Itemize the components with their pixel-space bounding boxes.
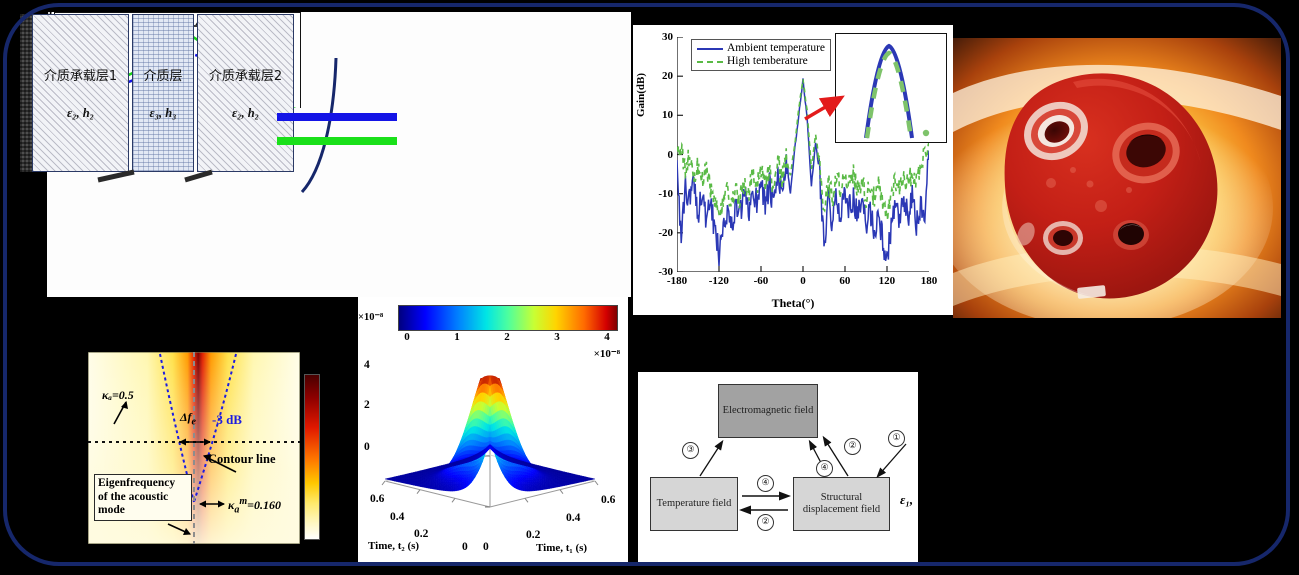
eigen-line-2: of the acoustic [98, 491, 188, 505]
layer-carrier-1-name: 介质承载层1 [44, 65, 117, 84]
legend-line-solid [697, 48, 723, 50]
surface-mesh [358, 339, 628, 565]
surface-ytick-02: 0.2 [414, 528, 428, 540]
surface-ytick-04: 0.4 [390, 511, 404, 523]
gain-x-axis-label: Theta(°) [633, 296, 953, 311]
gain-ytick-10: 10 [662, 109, 673, 121]
layer-dielectric-params: ε₃, h₃ [149, 106, 176, 121]
surface-xtick-04: 0.4 [566, 512, 580, 524]
legend-label-ambient: Ambient temperature [727, 42, 825, 55]
layer-carrier-2-name: 介质承载层2 [209, 65, 282, 84]
contour-kappa-a-label: κₐ=0.5 [102, 388, 134, 403]
nose-cone-illustration [953, 38, 1281, 318]
surface-y-axis-label: Time, t₂ (s) [368, 540, 419, 552]
surface-xtick-06: 0.6 [601, 494, 615, 506]
spectrum-legend-swatch-blue [277, 113, 397, 121]
gain-pattern-chart: Gain(dB) Theta(°) 30 20 10 0 -10 -20 -30… [633, 25, 953, 315]
main-lobe-zoom-inset [835, 33, 947, 143]
correlation-surface-plot: ×10⁻⁸ 0 1 2 3 4 ×10⁻⁸ 4 2 0 0.6 0.4 0.2 … [358, 297, 628, 565]
gain-xtick-180: 180 [921, 275, 938, 287]
layer-carrier-2: 介质承载层2 ε₂, h₂ [197, 14, 294, 172]
contour-contour-line-label: Contour line [208, 452, 276, 467]
gain-ytick-30: 30 [662, 31, 673, 43]
reentry-nose-cone-photo [953, 38, 1281, 318]
legend-item-high: High temberature [697, 55, 825, 68]
contour-delta-f-label: Δfe [180, 410, 196, 427]
arrow-number-2a: ② [844, 438, 861, 455]
surface-ytick-0: 0 [462, 541, 468, 553]
gain-ytick-m10: -10 [658, 188, 673, 200]
spectrum-legend-swatch-green [277, 137, 397, 145]
arrow-number-3: ③ [682, 442, 699, 459]
gain-xtick-0: 0 [800, 275, 806, 287]
legend-line-dashed [697, 61, 723, 63]
eigenfrequency-contour-plot: κₐ=0.5 -3 dB Δfe Contour line κam=0.160 … [88, 352, 300, 544]
gain-y-axis-label: Gain(dB) [635, 73, 647, 117]
layer-carrier-1: 介质承载层1 ε₂, h₂ [32, 14, 129, 172]
spectrum-y-axis-label: B , ref=1J ) [2, 6, 20, 126]
colorbar-exponent-left: ×10⁻⁸ [358, 311, 383, 323]
gain-xtick-m180: -180 [667, 275, 687, 287]
surface-xtick-0: 0 [483, 541, 489, 553]
legend-item-ambient: Ambient temperature [697, 42, 825, 55]
gain-xtick-120: 120 [879, 275, 896, 287]
layer-dielectric-name: 介质层 [143, 65, 182, 84]
surface-ytick-06: 0.6 [370, 493, 384, 505]
legend-label-high: High temberature [727, 55, 808, 68]
gain-ytick-m20: -20 [658, 227, 673, 239]
eigen-line-3: mode [98, 504, 188, 518]
figure-collage: B , ref=1J ) -50 -70 κₐ=0.5 Δfe [0, 0, 1299, 575]
epsilon-1-label: ε₁, [900, 492, 913, 508]
inset-curves [836, 34, 943, 139]
multiphysics-coupling-diagram: Electromagnetic field Temperature field … [638, 372, 918, 565]
contour-kappa-m-label: κam=0.160 [228, 496, 281, 515]
gain-ytick-0: 0 [668, 149, 674, 161]
layer-carrier-1-params: ε₂, h₂ [67, 106, 94, 121]
surface-colorbar [398, 305, 618, 331]
arrow-number-1: ① [888, 430, 905, 447]
coupling-arrows [638, 372, 918, 565]
arrow-number-2b: ② [757, 514, 774, 531]
eigen-line-1: Eigenfrequency [98, 477, 188, 491]
gain-xtick-60: 60 [839, 275, 850, 287]
contour-colorbar [304, 374, 320, 540]
gain-legend: Ambient temperature High temberature [691, 39, 831, 71]
surface-x-axis-label: Time, t₁ (s) [536, 542, 587, 554]
gain-xtick-m120: -120 [709, 275, 729, 287]
gain-xtick-m60: -60 [754, 275, 769, 287]
layer-carrier-2-params: ε₂, h₂ [232, 106, 259, 121]
contour-eigenfrequency-box: Eigenfrequency of the acoustic mode [94, 474, 192, 521]
gain-ytick-20: 20 [662, 70, 673, 82]
layer-dielectric: 介质层 ε₃, h₃ [132, 14, 194, 172]
arrow-number-4a: ④ [816, 460, 833, 477]
surface-xtick-02: 0.2 [526, 529, 540, 541]
arrow-number-4b: ④ [757, 475, 774, 492]
contour-minus3db-label: -3 dB [212, 412, 242, 428]
